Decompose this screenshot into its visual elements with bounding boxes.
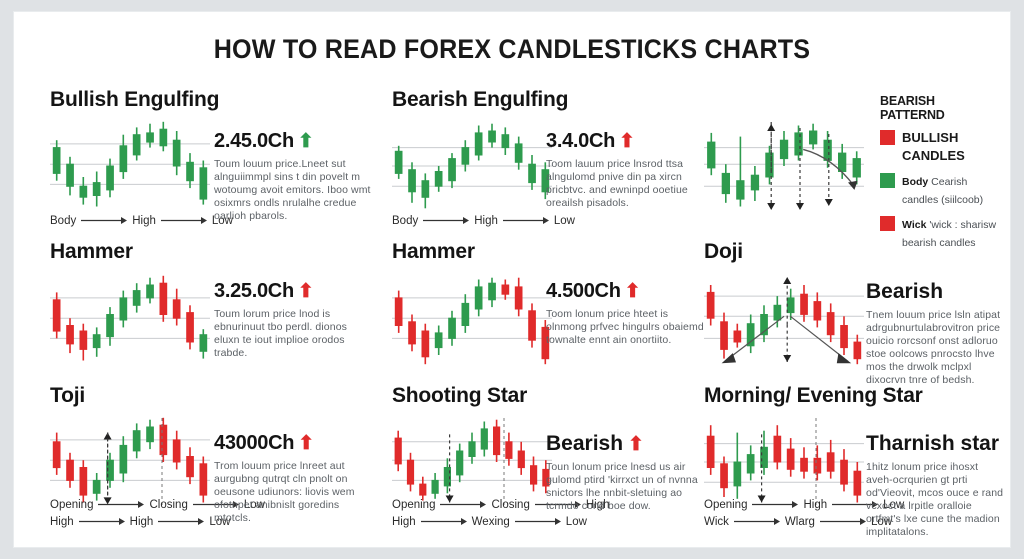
legend-item-text: BULLISH CANDLES [902, 129, 1002, 165]
legend-swatch-icon [880, 173, 895, 188]
axis-label: Wick [704, 516, 729, 528]
panel-morning-evening-star: Morning/ Evening StarOpening High LowWic… [14, 12, 1010, 547]
axis-arrow-icon [820, 517, 866, 526]
axis-arrow-icon [752, 500, 798, 509]
panel-title: Morning/ Evening Star [704, 384, 923, 408]
panel-value-text: Tharnish star [866, 432, 999, 456]
legend-item: BULLISH CANDLES [880, 129, 1002, 165]
axis-arrow-icon [734, 517, 780, 526]
legend-heading: BEARISH PATTERND [880, 94, 1002, 122]
panel-info-morning-evening-star: Tharnish star1hitz lonum price ihosxt av… [866, 432, 1006, 539]
legend-item: Body Cearish candles (siilcoob) [880, 172, 1002, 208]
candlestick-svg [704, 416, 864, 508]
axis-label: Opening [704, 499, 747, 511]
axis-label: High [803, 499, 827, 511]
infographic-card: HOW TO READ FOREX CANDLESTICKS CHARTS Bu… [14, 12, 1010, 547]
panel-description: 1hitz lonum price ihosxt aveh-ocrqurien … [866, 461, 1006, 539]
legend-swatch-icon [880, 130, 895, 145]
chart-morning-evening-star [704, 416, 864, 508]
legend-swatch-icon [880, 216, 895, 231]
legend: BEARISH PATTERND BULLISH CANDLES Body Ce… [880, 94, 1002, 251]
legend-item-label: Body Cearish candles (siilcoob) [902, 176, 983, 206]
legend-item: Wick 'wick : sharisw bearish candles [880, 215, 1002, 251]
legend-item-label: BULLISH CANDLES [902, 130, 965, 163]
legend-item-text: Wick 'wick : sharisw bearish candles [902, 215, 1002, 251]
panel-value: Tharnish star [866, 432, 1006, 456]
axis-label: Wlarg [785, 516, 815, 528]
legend-item-label: Wick 'wick : sharisw bearish candles [902, 219, 996, 249]
legend-item-text: Body Cearish candles (siilcoob) [902, 172, 1002, 208]
